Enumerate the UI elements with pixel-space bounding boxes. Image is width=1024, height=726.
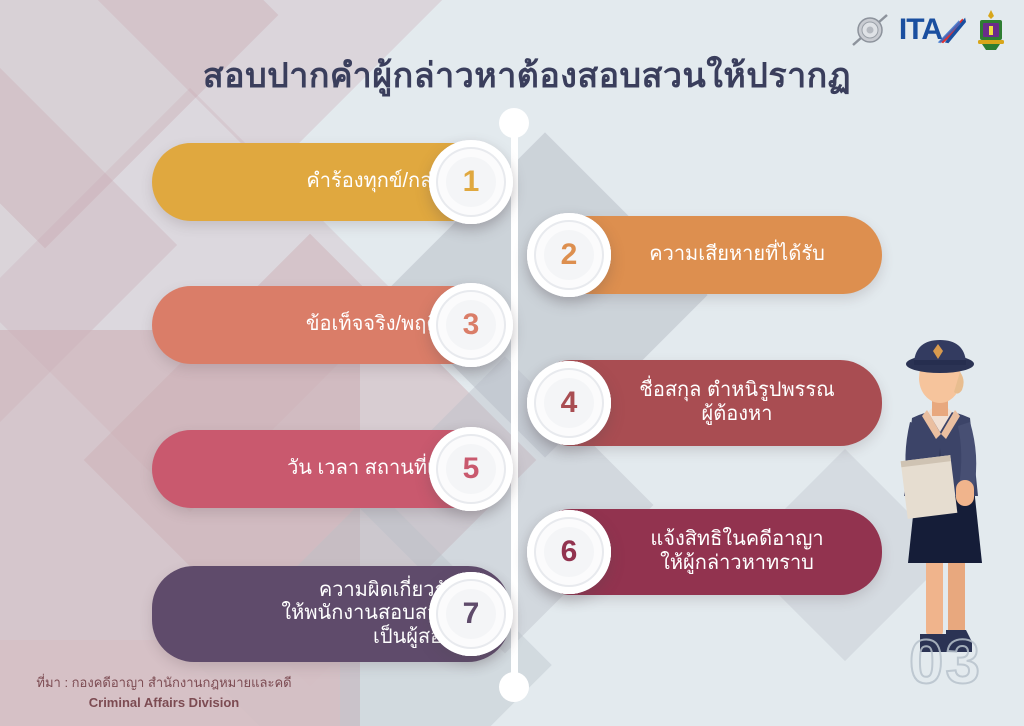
step-number-text-4: 4 [561,386,578,420]
step-item-2[interactable]: 2 ความเสียหายที่ได้รับ [530,216,882,294]
timeline-dot-bottom [499,672,529,702]
royal-emblem-icon [974,8,1008,52]
step-item-6[interactable]: 6 แจ้งสิทธิในคดีอาญา ให้ผู้กล่าวหาทราบ [530,509,882,595]
step-label-2: ความเสียหายที่ได้รับ [614,243,882,267]
step-item-7[interactable]: ความผิดเกี่ยวกับเพศ ให้พนักงานสอบสวนหญิง… [152,566,510,662]
female-police-officer-illustration [870,338,1010,668]
step-item-5[interactable]: วัน เวลา สถานที่เกิดเหตุ 5 [152,430,510,508]
page-title: สอบปากคำผู้กล่าวหาต้องสอบสวนให้ปรากฏ [0,48,1024,102]
ita-logo: ITA [899,13,966,47]
step-number-6: 6 [527,510,611,594]
step-number-5: 5 [429,427,513,511]
infographic-canvas: ITA สอบปากคำผู้กล่าวหาต้องสอบสวนให้ปรากฏ… [0,0,1024,726]
footer-line-2: Criminal Affairs Division [14,693,314,713]
footer-source: ที่มา : กองคดีอาญา สำนักงานกฎหมายและคดี … [14,673,314,712]
step-item-4[interactable]: 4 ชื่อสกุล ตำหนิรูปพรรณ ผู้ต้องหา [530,360,882,446]
step-number-1: 1 [429,140,513,224]
step-number-text-5: 5 [463,452,480,486]
step-number-text-7: 7 [463,597,480,631]
page-number: 03 [909,627,982,698]
footer-line-1: ที่มา : กองคดีอาญา สำนักงานกฎหมายและคดี [14,673,314,693]
step-number-text-1: 1 [463,165,480,199]
step-item-1[interactable]: คำร้องทุกข์/กล่าวโทษ 1 [152,143,510,221]
step-number-text-3: 3 [463,308,480,342]
step-label-4: ชื่อสกุล ตำหนิรูปพรรณ ผู้ต้องหา [614,379,882,426]
police-badge-icon [849,9,891,51]
step-item-3[interactable]: ข้อเท็จจริง/พฤติการณ์ 3 [152,286,510,364]
step-number-text-6: 6 [561,535,578,569]
step-label-6: แจ้งสิทธิในคดีอาญา ให้ผู้กล่าวหาทราบ [614,528,882,575]
logo-group: ITA [849,8,1008,52]
step-number-4: 4 [527,361,611,445]
step-number-3: 3 [429,283,513,367]
step-number-2: 2 [527,213,611,297]
step-number-text-2: 2 [561,238,578,272]
timeline-line [511,112,518,690]
step-number-7: 7 [429,572,513,656]
